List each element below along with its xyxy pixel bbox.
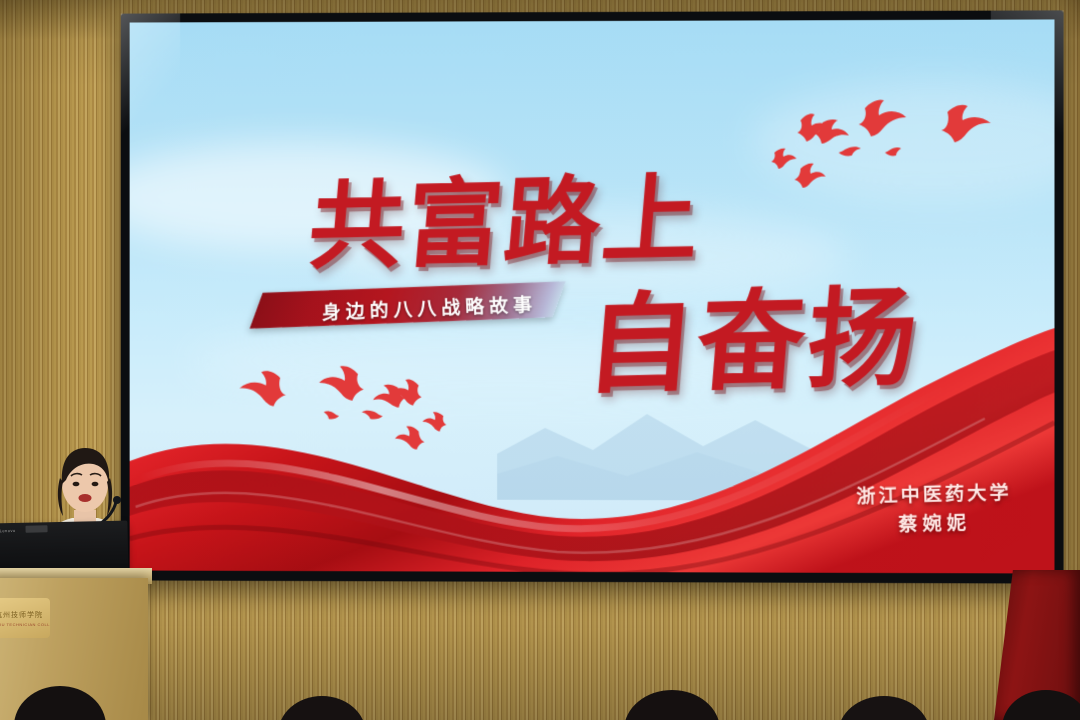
- lecture-hall-scene: 共富路上 自奋扬 身边的八八战略故事 浙江中医药大学 蔡婉妮: [0, 0, 1080, 720]
- podium-plaque: 杭州技师学院 HANGZHOU TECHNICIAN COLLEGE: [0, 598, 50, 638]
- slide-title-line1: 共富路上: [304, 141, 707, 288]
- flying-birds-flock-right-icon: [760, 94, 1002, 205]
- laptop-brand-label: Lenovo: [0, 528, 16, 533]
- slide-credit: 浙江中医药大学 蔡婉妮: [856, 480, 1013, 541]
- flying-birds-flock-left-icon: [229, 361, 458, 466]
- laptop-sticker: [25, 525, 47, 532]
- presentation-slide: 共富路上 自奋扬 身边的八八战略故事 浙江中医药大学 蔡婉妮: [130, 19, 1055, 573]
- projection-screen-frame: 共富路上 自奋扬 身边的八八战略故事 浙江中医药大学 蔡婉妮: [121, 10, 1064, 583]
- cloud-mist-4: [189, 321, 828, 401]
- cloud-mist-1: [130, 141, 507, 251]
- cloud-mist-3: [752, 80, 1054, 201]
- slide-title-line2: 自奋扬: [581, 251, 926, 415]
- credit-presenter-name: 蔡婉妮: [857, 508, 1013, 541]
- credit-organization: 浙江中医药大学: [856, 480, 1012, 513]
- plaque-secondary-text: HANGZHOU TECHNICIAN COLLEGE: [0, 622, 50, 627]
- plaque-primary-text: 杭州技师学院: [0, 610, 43, 620]
